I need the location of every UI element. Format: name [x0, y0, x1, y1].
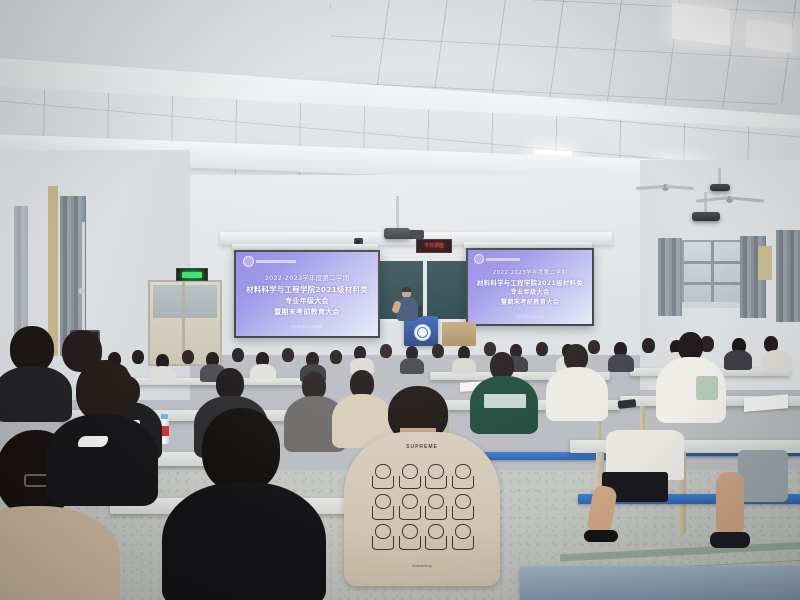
student-torso — [46, 414, 158, 506]
tshirt-face — [397, 462, 422, 490]
student-head — [132, 350, 144, 364]
curtain-right-a — [658, 238, 682, 316]
student-torso — [150, 366, 176, 384]
tshirt-face — [370, 462, 395, 490]
projector-far-right — [710, 184, 730, 191]
graphic-tshirt: SUPREME illustrated by — [344, 432, 500, 586]
tshirt-face — [370, 522, 395, 550]
tshirt-face — [450, 492, 475, 520]
student-head — [282, 348, 294, 362]
student-head — [62, 330, 102, 372]
slide-line-4: 暨期末考前教育大会 — [468, 299, 592, 307]
shirt-print — [484, 394, 526, 408]
door-mullion — [182, 282, 185, 360]
window-right — [682, 240, 744, 306]
exit-sign-glow — [182, 272, 202, 278]
ceiling-light — [746, 19, 792, 53]
slide-line-3: 专业年级大会 — [236, 297, 378, 306]
student-torso — [762, 350, 792, 370]
projector-right — [692, 212, 720, 221]
tshirt-face — [397, 492, 422, 520]
student-torso — [546, 367, 608, 421]
tshirt-face — [370, 492, 395, 520]
student-head — [232, 348, 244, 362]
window-mullion-h — [684, 261, 742, 264]
tshirt-face — [397, 522, 422, 550]
lecture-hall-photo: 今日讲座 2022-2023学年度第二学期 材料科学与工程学院2021级材料类 … — [0, 0, 800, 600]
curtain-right-c — [776, 230, 800, 322]
window-mullion-v — [711, 242, 714, 304]
student-head — [432, 344, 444, 358]
student-head — [642, 338, 655, 353]
student-torso — [724, 350, 752, 370]
student-head — [536, 342, 548, 356]
slide-line-1: 2022-2023学年度第二学期 — [468, 270, 592, 278]
wall-sensor — [78, 288, 85, 294]
student-shoe — [584, 530, 618, 542]
led-ticker-text: 今日讲座 — [424, 244, 444, 249]
student-torso — [162, 482, 326, 600]
student-torso — [0, 366, 72, 422]
projector-pole-center — [396, 196, 399, 230]
left-door-frame — [48, 186, 58, 356]
student-backpack — [738, 450, 788, 502]
projection-screen-left: 2022-2023学年度第二学期 材料科学与工程学院2021级材料类 专业年级大… — [234, 250, 380, 338]
slide-line-3: 专业年级大会 — [468, 289, 592, 297]
tshirt-footer-text: illustrated by — [344, 564, 500, 568]
student-torso — [400, 358, 424, 374]
student-leg — [716, 472, 744, 536]
shirt-logo — [78, 436, 108, 447]
university-wordmark — [486, 258, 520, 261]
student-head — [202, 408, 280, 492]
university-wordmark — [256, 260, 296, 263]
window-sill — [676, 302, 746, 308]
bottle-cap — [161, 414, 168, 419]
blackboard-divider — [423, 261, 427, 319]
student-shoe — [710, 532, 750, 548]
notebook-paper — [744, 394, 788, 412]
student-head — [182, 350, 194, 364]
desk-foreground-nearest — [520, 566, 800, 600]
slide-line-2: 材料科学与工程学院2021级材料类 — [236, 285, 378, 295]
projection-screen-right: 2022-2023学年度第二学期 材料科学与工程学院2021级材料类 专业年级大… — [466, 248, 594, 326]
university-emblem-icon — [243, 256, 254, 267]
ceiling-light — [672, 2, 730, 45]
speaker-box-right — [758, 246, 772, 280]
slide-line-4: 暨期末考前教育大会 — [236, 308, 378, 317]
student-head — [380, 344, 392, 358]
tshirt-face-grid — [370, 462, 474, 551]
student-head — [588, 340, 600, 354]
speaker-torso — [397, 297, 418, 321]
slide-logo-right — [474, 254, 520, 264]
wall-conduit — [82, 222, 85, 332]
tshirt-face — [423, 492, 448, 520]
slide-footer-left: 材料科学与工程学院 — [236, 325, 378, 330]
window-mullion-h2 — [684, 282, 742, 285]
student-head — [330, 350, 342, 364]
smartphone[interactable] — [618, 399, 637, 409]
speaker-hair — [402, 287, 411, 292]
exit-sign — [176, 268, 208, 281]
podium-table — [442, 322, 476, 346]
tshirt-brand-text: SUPREME — [344, 444, 500, 450]
tshirt-face — [423, 522, 448, 550]
slide-footer-right: 材料科学与工程学院 — [468, 314, 592, 319]
shirt-print — [696, 376, 718, 400]
tshirt-face — [450, 522, 475, 550]
student-torso — [250, 364, 276, 382]
slide-line-2: 材料科学与工程学院2021级材料类 — [468, 279, 592, 288]
tshirt-face — [450, 462, 475, 490]
podium-emblem-inner — [417, 327, 428, 338]
projector-center — [384, 228, 410, 239]
student-torso — [452, 358, 476, 374]
projector-pole-right — [704, 192, 707, 214]
led-ticker-display: 今日讲座 — [416, 239, 452, 253]
student-torso — [608, 354, 634, 372]
slide-line-1: 2022-2023学年度第二学期 — [236, 274, 378, 283]
university-emblem-icon — [474, 254, 484, 264]
tshirt-face — [423, 462, 448, 490]
slide-logo-left — [243, 256, 296, 267]
